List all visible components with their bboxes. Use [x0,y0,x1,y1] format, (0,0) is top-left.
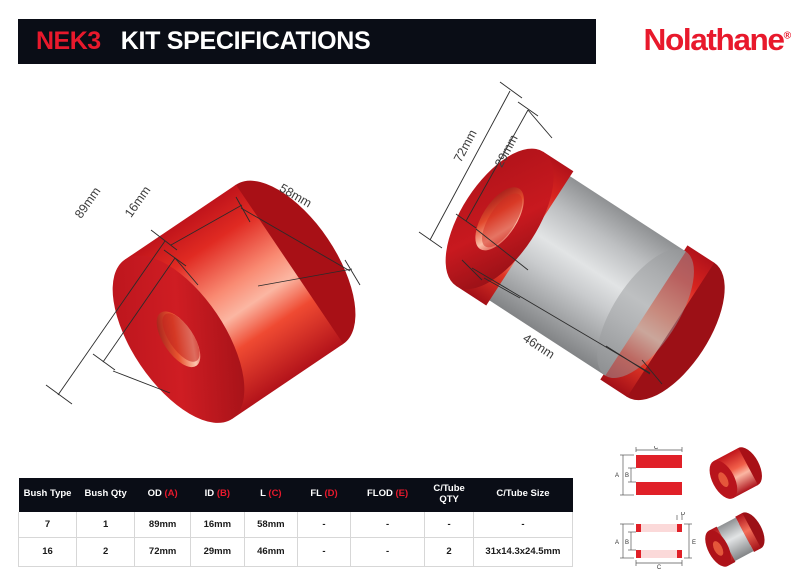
solid-bush-drawing [20,88,420,448]
column-header-l: L (C) [244,478,298,512]
svg-text:A: A [615,540,619,546]
svg-text:C: C [657,565,662,570]
cell-od: 72mm [135,537,191,566]
cell-ctube-qty: 2 [425,537,474,566]
brand-logo: Nolathane® [644,22,792,58]
column-code-b: (B) [217,488,230,499]
flanged-bush-cross-section: A B C D E [610,512,696,570]
cell-l: 46mm [244,537,298,566]
plain-bush-legend: C A B [596,446,796,504]
svg-text:A: A [615,473,619,479]
svg-text:C: C [654,446,659,451]
flanged-bush-legend: A B C D E [596,512,796,570]
column-header-id: ID (B) [191,478,245,512]
brand-name: Nolathane [644,22,784,57]
column-code-c: (C) [268,488,281,499]
cell-ctube-size: - [473,512,572,538]
cell-bush-type: 7 [19,512,77,538]
cell-id: 16mm [191,512,245,538]
column-header-od: OD (A) [135,478,191,512]
table-header-row: Bush Type Bush Qty OD (A) ID (B) L (C) F… [19,478,573,512]
cell-bush-qty: 2 [77,537,135,566]
cell-bush-type: 16 [19,537,77,566]
cell-flod: - [350,537,424,566]
table-row: 16 2 72mm 29mm 46mm - - 2 31x14.3x24.5mm [19,537,573,566]
svg-text:B: B [625,473,629,479]
cell-bush-qty: 1 [77,512,135,538]
cell-flod: - [350,512,424,538]
plain-bush-render [702,446,772,504]
svg-text:E: E [692,540,696,546]
column-code-a: (A) [164,488,177,499]
column-header-flod: FLOD (E) [350,478,424,512]
kit-code: NEK3 [36,27,101,56]
plain-bush-cross-section: C A B [610,446,696,504]
specifications-table: Bush Type Bush Qty OD (A) ID (B) L (C) F… [18,478,573,567]
header-bar: NEK3 KIT SPECIFICATIONS [18,19,596,64]
table-row: 7 1 89mm 16mm 58mm - - - - [19,512,573,538]
column-header-fl: FL (D) [298,478,351,512]
svg-text:D: D [681,512,686,517]
cell-fl: - [298,512,351,538]
column-code-d: (D) [324,488,337,499]
column-header-ctube-qty: C/Tube QTY [425,478,474,512]
svg-text:B: B [625,540,629,546]
column-code-e: (E) [395,488,408,499]
cell-ctube-qty: - [425,512,474,538]
column-header-ctube-size: C/Tube Size [473,478,572,512]
cell-ctube-size: 31x14.3x24.5mm [473,537,572,566]
column-header-bush-type: Bush Type [19,478,77,512]
cell-fl: - [298,537,351,566]
diagram-area: 89mm 16mm 58mm [0,78,804,458]
cell-od: 89mm [135,512,191,538]
page-title: KIT SPECIFICATIONS [121,27,371,56]
crush-tube-bush-render [702,512,772,570]
legend-area: C A B [596,446,796,568]
registered-trademark-icon: ® [784,31,792,42]
cell-l: 58mm [244,512,298,538]
cell-id: 29mm [191,537,245,566]
column-header-bush-qty: Bush Qty [77,478,135,512]
